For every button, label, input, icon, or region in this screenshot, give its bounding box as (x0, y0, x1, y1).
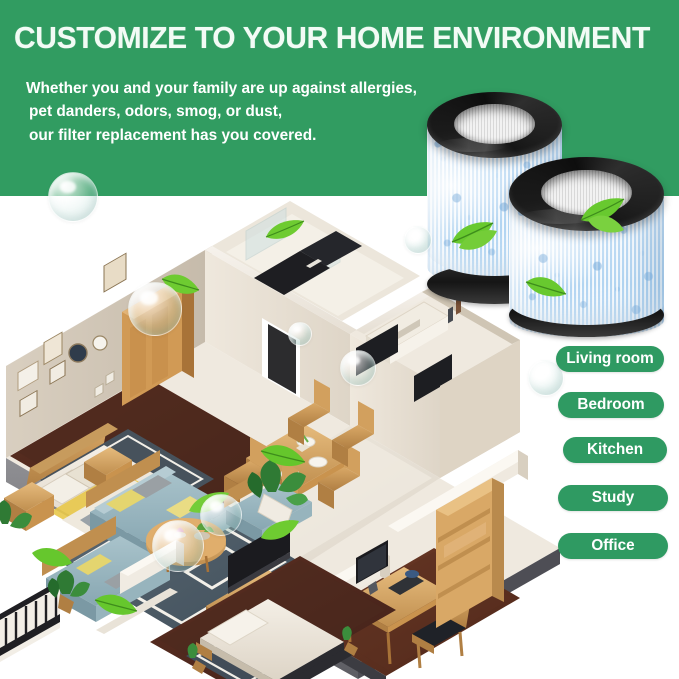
room-badge-office[interactable]: Office (558, 533, 668, 559)
room-badge-kitchen[interactable]: Kitchen (563, 437, 667, 463)
room-badge-label: Study (592, 489, 635, 507)
filter-center-hole-back (454, 104, 535, 144)
room-badge-label: Bedroom (577, 396, 644, 414)
room-badge-label: Kitchen (587, 441, 643, 459)
room-badge-study[interactable]: Study (558, 485, 668, 511)
room-badge-label: Office (591, 537, 634, 555)
filter-center-hole-front (541, 170, 632, 215)
product-banner: CUSTOMIZE TO YOUR HOME ENVIRONMENT Wheth… (0, 0, 679, 679)
hepa-filter-front (509, 157, 664, 337)
subcopy-line-2: pet danders, odors, smog, or dust, (26, 100, 456, 123)
subcopy-paragraph: Whether you and your family are up again… (26, 77, 456, 147)
subcopy-line-3: our filter replacement has you covered. (26, 124, 456, 147)
room-badge-living-room[interactable]: Living room (556, 346, 664, 372)
room-badge-label: Living room (566, 350, 654, 368)
page-title: CUSTOMIZE TO YOUR HOME ENVIRONMENT (14, 22, 656, 54)
subcopy-line-1: Whether you and your family are up again… (26, 77, 456, 100)
room-badge-bedroom[interactable]: Bedroom (558, 392, 664, 418)
